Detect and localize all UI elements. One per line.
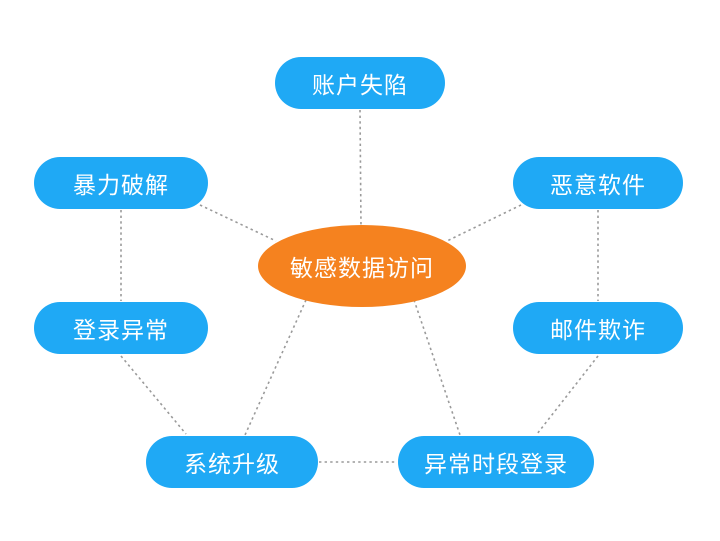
branch-node-label: 邮件欺诈 <box>550 311 646 345</box>
branch-node-label: 异常时段登录 <box>424 445 568 479</box>
connector-center-right-upper <box>447 205 521 241</box>
connector-center-left-upper <box>200 205 276 241</box>
branch-node-brute-force[interactable]: 暴力破解 <box>34 157 208 209</box>
center-node-sensitive-data-access[interactable]: 敏感数据访问 <box>258 225 466 307</box>
connector-center-top <box>360 110 361 227</box>
branch-node-label: 系统升级 <box>184 445 280 479</box>
branch-node-abnormal-time-login[interactable]: 异常时段登录 <box>398 436 594 488</box>
branch-node-malware[interactable]: 恶意软件 <box>513 157 683 209</box>
connector-left-lower-bottom-left <box>121 356 186 434</box>
connector-right-lower-bottom-right <box>537 356 598 434</box>
branch-node-account-compromise[interactable]: 账户失陷 <box>275 57 445 109</box>
branch-node-email-fraud[interactable]: 邮件欺诈 <box>513 302 683 354</box>
diagram-canvas: 敏感数据访问 账户失陷 暴力破解 登录异常 恶意软件 邮件欺诈 系统升级 异常时… <box>0 0 720 541</box>
branch-node-label: 恶意软件 <box>550 166 646 200</box>
branch-node-label: 账户失陷 <box>312 66 408 100</box>
center-node-label: 敏感数据访问 <box>290 249 434 283</box>
connector-center-bottom-left <box>245 300 306 435</box>
branch-node-login-anomaly[interactable]: 登录异常 <box>34 302 208 354</box>
branch-node-label: 登录异常 <box>73 311 169 345</box>
branch-node-label: 暴力破解 <box>73 166 169 200</box>
connector-center-bottom-right <box>414 300 460 435</box>
branch-node-system-upgrade[interactable]: 系统升级 <box>146 436 318 488</box>
